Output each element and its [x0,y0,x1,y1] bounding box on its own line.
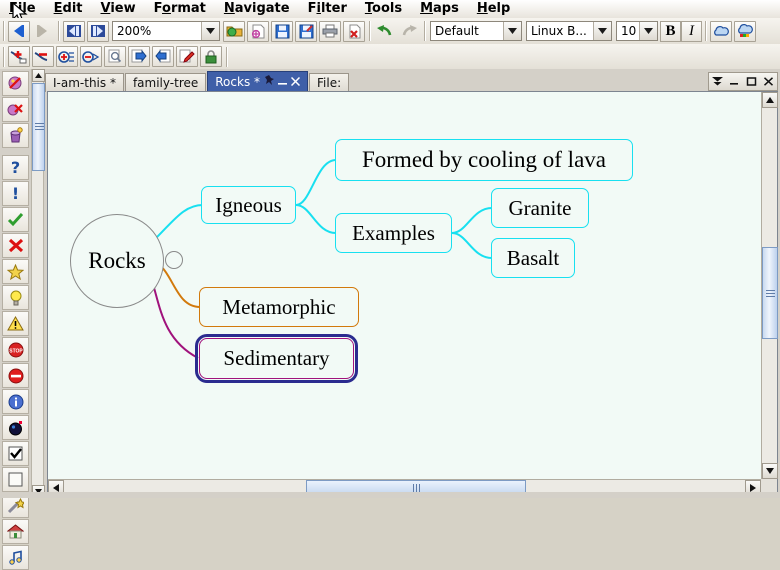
navigate-back-icon[interactable] [8,21,30,42]
light-bulb-icon[interactable] [2,285,29,310]
tab-label: Rocks * [215,75,260,89]
window-minimize-icon[interactable] [728,75,741,88]
chevron-down-icon[interactable] [503,22,521,40]
close-map-icon[interactable] [343,21,365,42]
mindmap-node-label: Formed by cooling of lava [362,147,606,173]
music-note-icon[interactable] [2,545,29,570]
collapse-all-icon[interactable] [80,46,102,67]
status-bar [0,492,780,498]
vertical-scroll-thumb[interactable] [762,247,778,339]
toolbar-separator [702,21,709,41]
mindmap-node-label: Granite [509,196,572,221]
tab-label: I-am-this * [53,76,116,90]
lock-node-icon[interactable] [200,46,222,67]
toolbar-separator [0,21,7,41]
toolbar-separator [55,21,62,41]
pin-icon[interactable] [265,75,274,89]
toolbar-primary: 200% Default [0,18,780,45]
svg-text:STOP: STOP [9,348,23,354]
tab-label: family-tree [133,76,198,90]
mindmap-root-label: Rocks [88,248,146,274]
cloud-color-icon[interactable] [734,21,756,42]
exclamation-mark-icon[interactable]: ! [2,181,29,206]
remove-node-icon[interactable] [32,46,54,67]
no-entry-icon[interactable] [2,363,29,388]
tab-i-am-this[interactable]: I-am-this * [45,73,124,92]
mindmap-node-basalt[interactable]: Basalt [491,238,575,278]
mindmap-node-label: Basalt [507,246,560,271]
mindmap-node-examples[interactable]: Examples [335,213,452,253]
remove-all-icons-icon[interactable] [2,97,29,122]
root-collapse-handle[interactable] [165,251,183,269]
tab-rocks[interactable]: Rocks * [207,71,308,92]
style-value: Default [431,24,503,38]
tab-window-controls [708,72,778,91]
checkbox-checked-icon[interactable] [2,441,29,466]
expand-all-icon[interactable] [56,46,78,67]
scroll-down-button[interactable] [762,463,778,479]
star-icon[interactable] [2,259,29,284]
font-size-value: 10 [617,24,639,38]
menu-item-filter[interactable]: Filter [299,0,356,18]
bold-button[interactable]: B [660,21,681,42]
toolbar-secondary [0,44,780,70]
mindmap-node-label: Igneous [215,193,282,218]
close-icon[interactable] [291,75,300,89]
scroll-thumb-grip [766,293,775,294]
chevron-down-icon[interactable] [201,22,219,40]
navigate-forward-icon[interactable] [32,21,54,42]
menu-item-file[interactable]: FFileile [0,0,45,18]
tab-controls [265,75,300,89]
find-icon[interactable] [104,46,126,67]
next-map-icon[interactable] [87,21,109,42]
print-icon[interactable] [319,21,341,42]
remove-icon-icon[interactable] [2,71,29,96]
mindmap-node-igneous[interactable]: Igneous [201,186,296,224]
tab-bar: I-am-this * family-tree Rocks * [45,71,780,92]
cross-mark-icon[interactable] [2,233,29,258]
font-size-combo[interactable]: 10 [616,21,658,41]
edit-node-icon[interactable] [176,46,198,67]
minimize-icon[interactable] [278,75,287,89]
font-combo[interactable]: Linux B... [526,21,612,41]
tab-family-tree[interactable]: family-tree [125,73,206,92]
menu-item-tools[interactable]: Tools [356,0,411,18]
tab-dropdown-icon[interactable] [711,75,724,88]
sidebar-scroll-up-button[interactable] [32,69,45,82]
stop-sign-icon[interactable]: STOP [2,337,29,362]
save-icon[interactable] [271,21,293,42]
font-value: Linux B... [527,24,593,38]
mindmap-node-metamorphic[interactable]: Metamorphic [199,287,359,327]
mindmap-node-formed-by-cooling-of-lava[interactable]: Formed by cooling of lava [335,139,633,181]
mindmap-node-label: Sedimentary [223,346,329,371]
icon-sidebar: ? ! STOP [0,69,31,498]
window-close-icon[interactable] [762,75,775,88]
move-right-icon[interactable] [128,46,150,67]
zoom-value: 200% [113,24,201,38]
menu-item-help[interactable]: Help [468,0,519,18]
toolbar-separator [421,21,428,41]
document-frame: I-am-this * family-tree Rocks * [45,69,780,498]
question-mark-icon[interactable]: ? [2,155,29,180]
checkbox-empty-icon[interactable] [2,467,29,492]
save-as-icon[interactable] [295,21,317,42]
mindmap-node-sedimentary[interactable]: Sedimentary [199,338,354,379]
italic-button[interactable]: I [681,21,702,42]
chevron-down-icon[interactable] [639,22,657,40]
menu-item-edit[interactable]: Edit [45,0,92,18]
mindmap-node-granite[interactable]: Granite [491,188,589,228]
map-canvas-container: Rocks Igneous Formed by cooling of lava … [47,91,778,496]
add-node-icon[interactable] [8,46,30,67]
tab-file[interactable]: File: [309,73,349,92]
warning-icon[interactable] [2,311,29,336]
paint-bucket-icon[interactable] [2,123,29,148]
style-combo[interactable]: Default [430,21,522,41]
cloud-icon[interactable] [710,21,732,42]
previous-map-icon[interactable] [63,21,85,42]
toolbar-separator [366,21,373,41]
undo-icon[interactable] [374,21,396,42]
check-mark-icon[interactable] [2,207,29,232]
new-map-icon[interactable] [247,21,269,42]
toolbar-separator [223,47,230,67]
menu-bar: FFileile Edit View Format Navigate Filte… [0,0,780,19]
mindmap-canvas[interactable]: Rocks Igneous Formed by cooling of lava … [48,92,761,479]
redo-icon[interactable] [398,21,420,42]
scroll-up-button[interactable] [762,92,778,108]
bomb-icon[interactable] [2,415,29,440]
menu-item-format[interactable]: Format [145,0,215,18]
canvas-vertical-scrollbar[interactable] [761,92,777,479]
toolbar-separator [0,47,7,67]
open-folder-icon[interactable] [223,21,245,42]
house-icon[interactable] [2,519,29,544]
move-left-icon[interactable] [152,46,174,67]
sidebar-scroll-thumb[interactable] [32,83,45,171]
chevron-down-icon[interactable] [593,22,611,40]
mindmap-node-label: Examples [352,221,435,246]
menu-item-view[interactable]: View [92,0,145,18]
menu-item-navigate[interactable]: Navigate [215,0,299,18]
menu-item-maps[interactable]: Maps [411,0,468,18]
mindmap-node-label: Metamorphic [222,295,335,320]
mindmap-root-node[interactable]: Rocks [70,214,164,308]
tab-label: File: [317,76,341,90]
sidebar-scrollbar[interactable] [31,69,44,498]
info-icon[interactable] [2,389,29,414]
window-maximize-icon[interactable] [745,75,758,88]
application-window: FFileile Edit View Format Navigate Filte… [0,0,780,498]
zoom-combo[interactable]: 200% [112,21,220,41]
